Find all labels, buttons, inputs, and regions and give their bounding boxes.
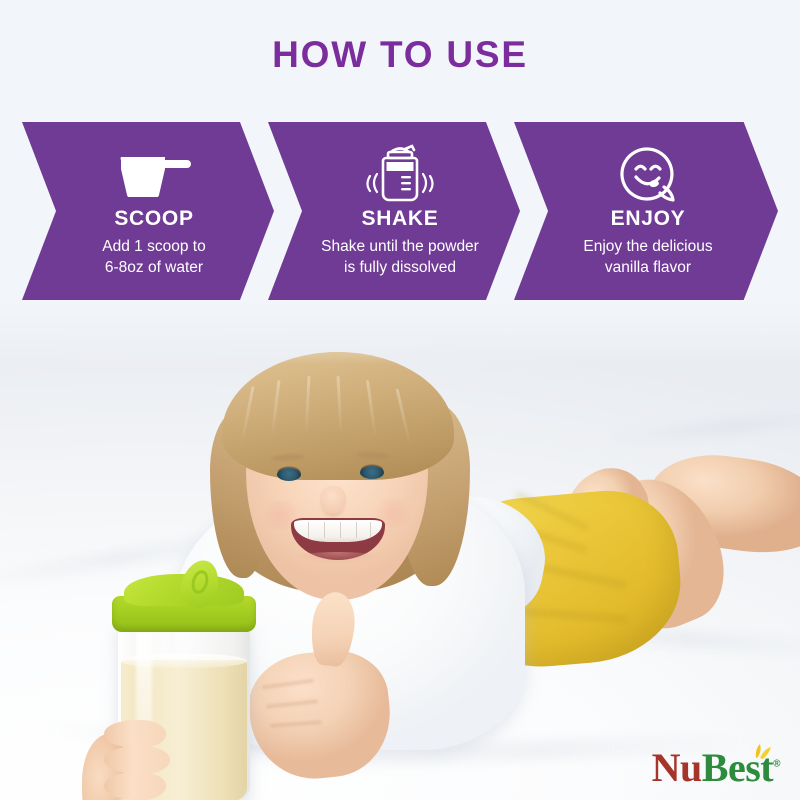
step-description-shake: Shake until the powder is fully dissolve…	[321, 237, 479, 278]
steps-container: SCOOP Add 1 scoop to 6-8oz of water	[0, 122, 800, 300]
boy-hand-gripping-bottle	[104, 720, 178, 800]
finger	[104, 720, 166, 748]
boy-hair-fringe	[222, 352, 454, 480]
logo-text-nu: Nu	[652, 745, 702, 790]
registered-trademark-symbol: ®	[773, 759, 780, 770]
wheat-leaf-icon	[746, 739, 772, 759]
page-title: HOW TO USE	[0, 34, 800, 76]
step-title-shake: SHAKE	[361, 207, 438, 230]
step-title-scoop: SCOOP	[114, 207, 193, 230]
boy-lower-lip	[286, 552, 390, 568]
boy-eye	[360, 466, 384, 479]
boy-teeth	[294, 520, 382, 542]
boy-eye	[277, 468, 301, 481]
step-chevron-shake: SHAKE Shake until the powder is fully di…	[268, 122, 520, 300]
step-description-enjoy: Enjoy the delicious vanilla flavor	[583, 237, 712, 278]
smiley-face-icon	[618, 143, 678, 205]
photo-top-blend	[0, 300, 800, 364]
product-lifestyle-photo	[0, 300, 800, 800]
step-chevron-enjoy: ENJOY Enjoy the delicious vanilla flavor	[514, 122, 778, 300]
finger	[104, 772, 166, 800]
how-to-use-poster: HOW TO USE SCOOP Add 1 scoop to 6-8oz of…	[0, 0, 800, 800]
finger	[104, 746, 170, 774]
step-description-scoop: Add 1 scoop to 6-8oz of water	[102, 237, 205, 278]
measuring-scoop-icon	[117, 143, 191, 205]
shaker-bottle-icon	[361, 143, 439, 205]
step-chevron-scoop: SCOOP Add 1 scoop to 6-8oz of water	[22, 122, 274, 300]
nubest-logo: NuBest®	[652, 742, 780, 788]
step-title-enjoy: ENJOY	[611, 207, 686, 230]
boy-nose	[320, 486, 346, 514]
